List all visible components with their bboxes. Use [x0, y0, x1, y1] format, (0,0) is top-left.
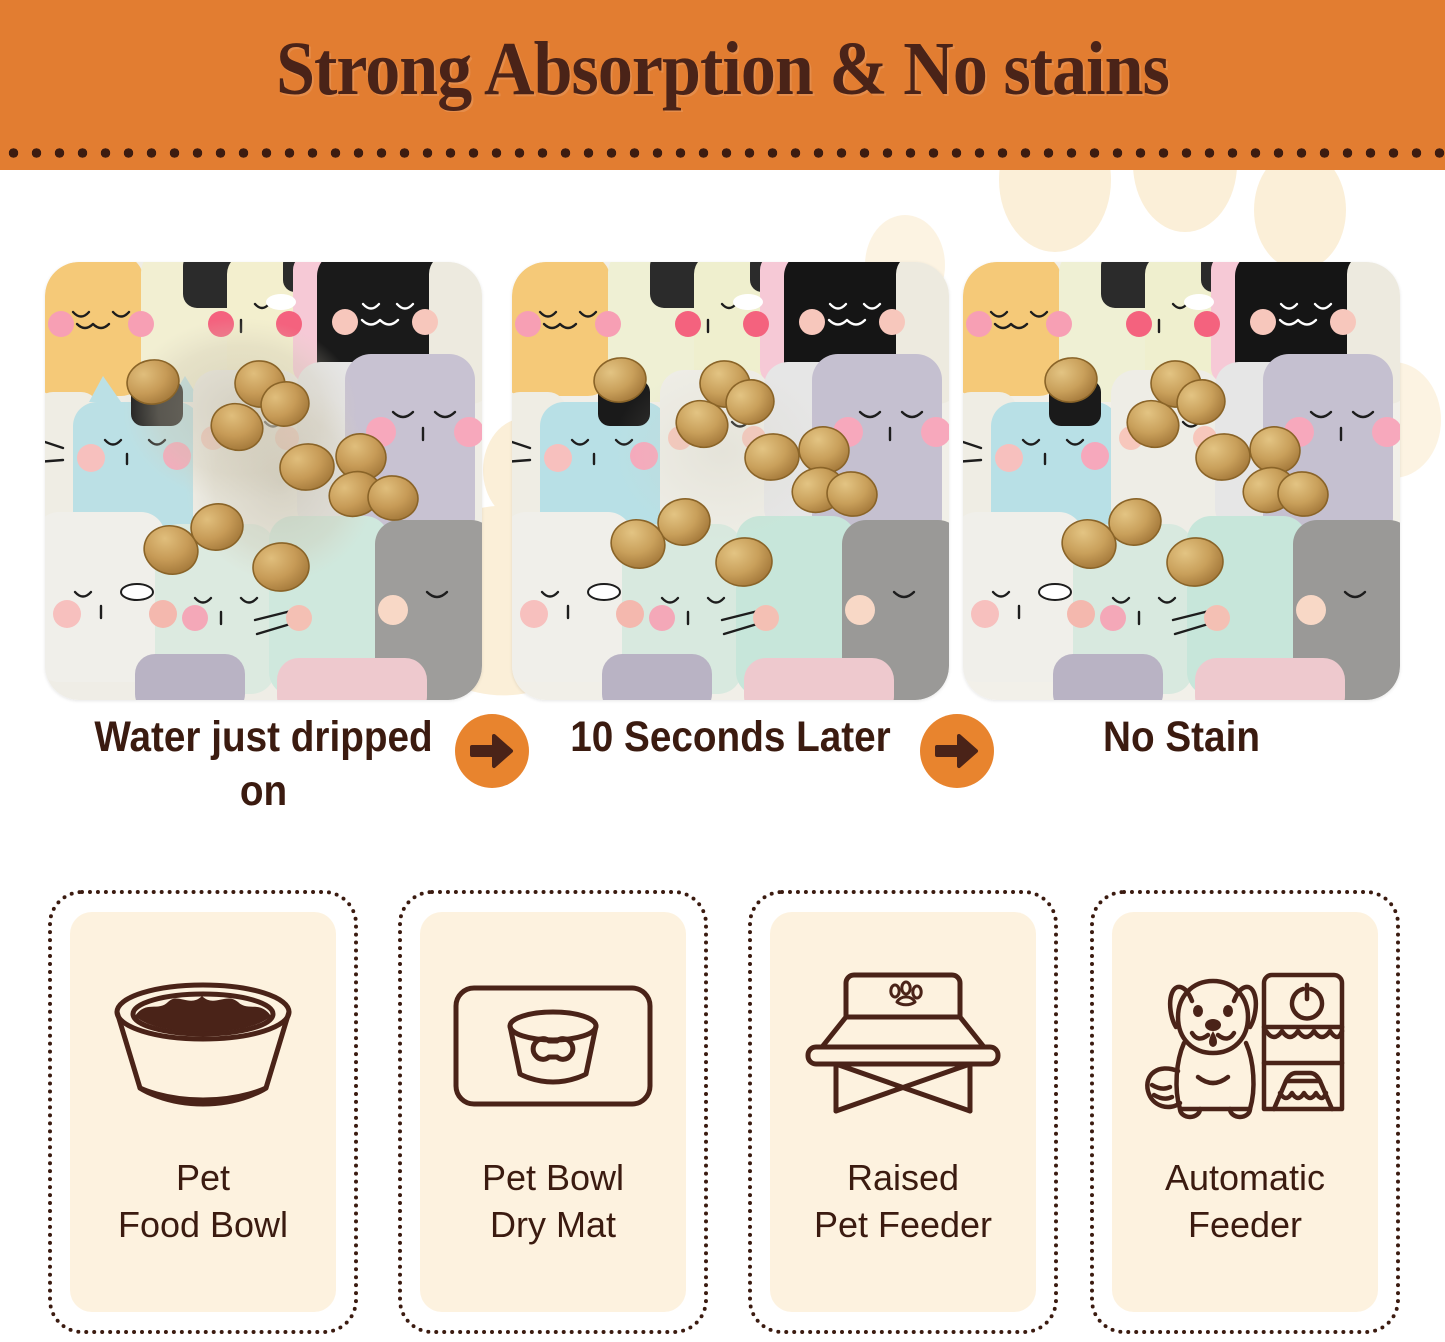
page-title: Strong Absorption & No stains	[58, 26, 1387, 113]
use-case-card-pet-food-bowl[interactable]: PetFood Bowl	[48, 890, 358, 1334]
pet-bowl-dry-mat-icon	[448, 950, 658, 1140]
automatic-feeder-icon	[1140, 950, 1350, 1140]
use-case-card-raised-pet-feeder[interactable]: RaisedPet Feeder	[748, 890, 1058, 1334]
demo-photo-water-dripped	[45, 262, 482, 700]
header-banner: Strong Absorption & No stains	[0, 0, 1445, 170]
pet-food-bowl-icon	[98, 950, 308, 1140]
demo-captions: Water just dripped on 10 Seconds Later N…	[0, 710, 1445, 830]
demo-photo-no-stain	[963, 262, 1400, 700]
demo-caption-ten-seconds: 10 Seconds Later	[534, 710, 927, 764]
raised-pet-feeder-icon	[798, 950, 1008, 1140]
header-dotted-divider	[0, 148, 1445, 158]
demo-caption-water-dripped: Water just dripped on	[67, 710, 460, 818]
use-case-label-pet-bowl-dry-mat: Pet BowlDry Mat	[420, 1154, 686, 1248]
demo-photo-ten-seconds	[512, 262, 949, 700]
use-case-cards: PetFood Bowl Pet BowlDry Mat	[0, 890, 1445, 1342]
use-case-card-automatic-feeder[interactable]: AutomaticFeeder	[1090, 890, 1400, 1334]
absorption-demo-photos	[0, 255, 1445, 710]
demo-caption-no-stain: No Stain	[985, 710, 1378, 764]
use-case-card-pet-bowl-dry-mat[interactable]: Pet BowlDry Mat	[398, 890, 708, 1334]
use-case-label-automatic-feeder: AutomaticFeeder	[1112, 1154, 1378, 1248]
use-case-label-pet-food-bowl: PetFood Bowl	[70, 1154, 336, 1248]
use-case-label-raised-pet-feeder: RaisedPet Feeder	[770, 1154, 1036, 1248]
